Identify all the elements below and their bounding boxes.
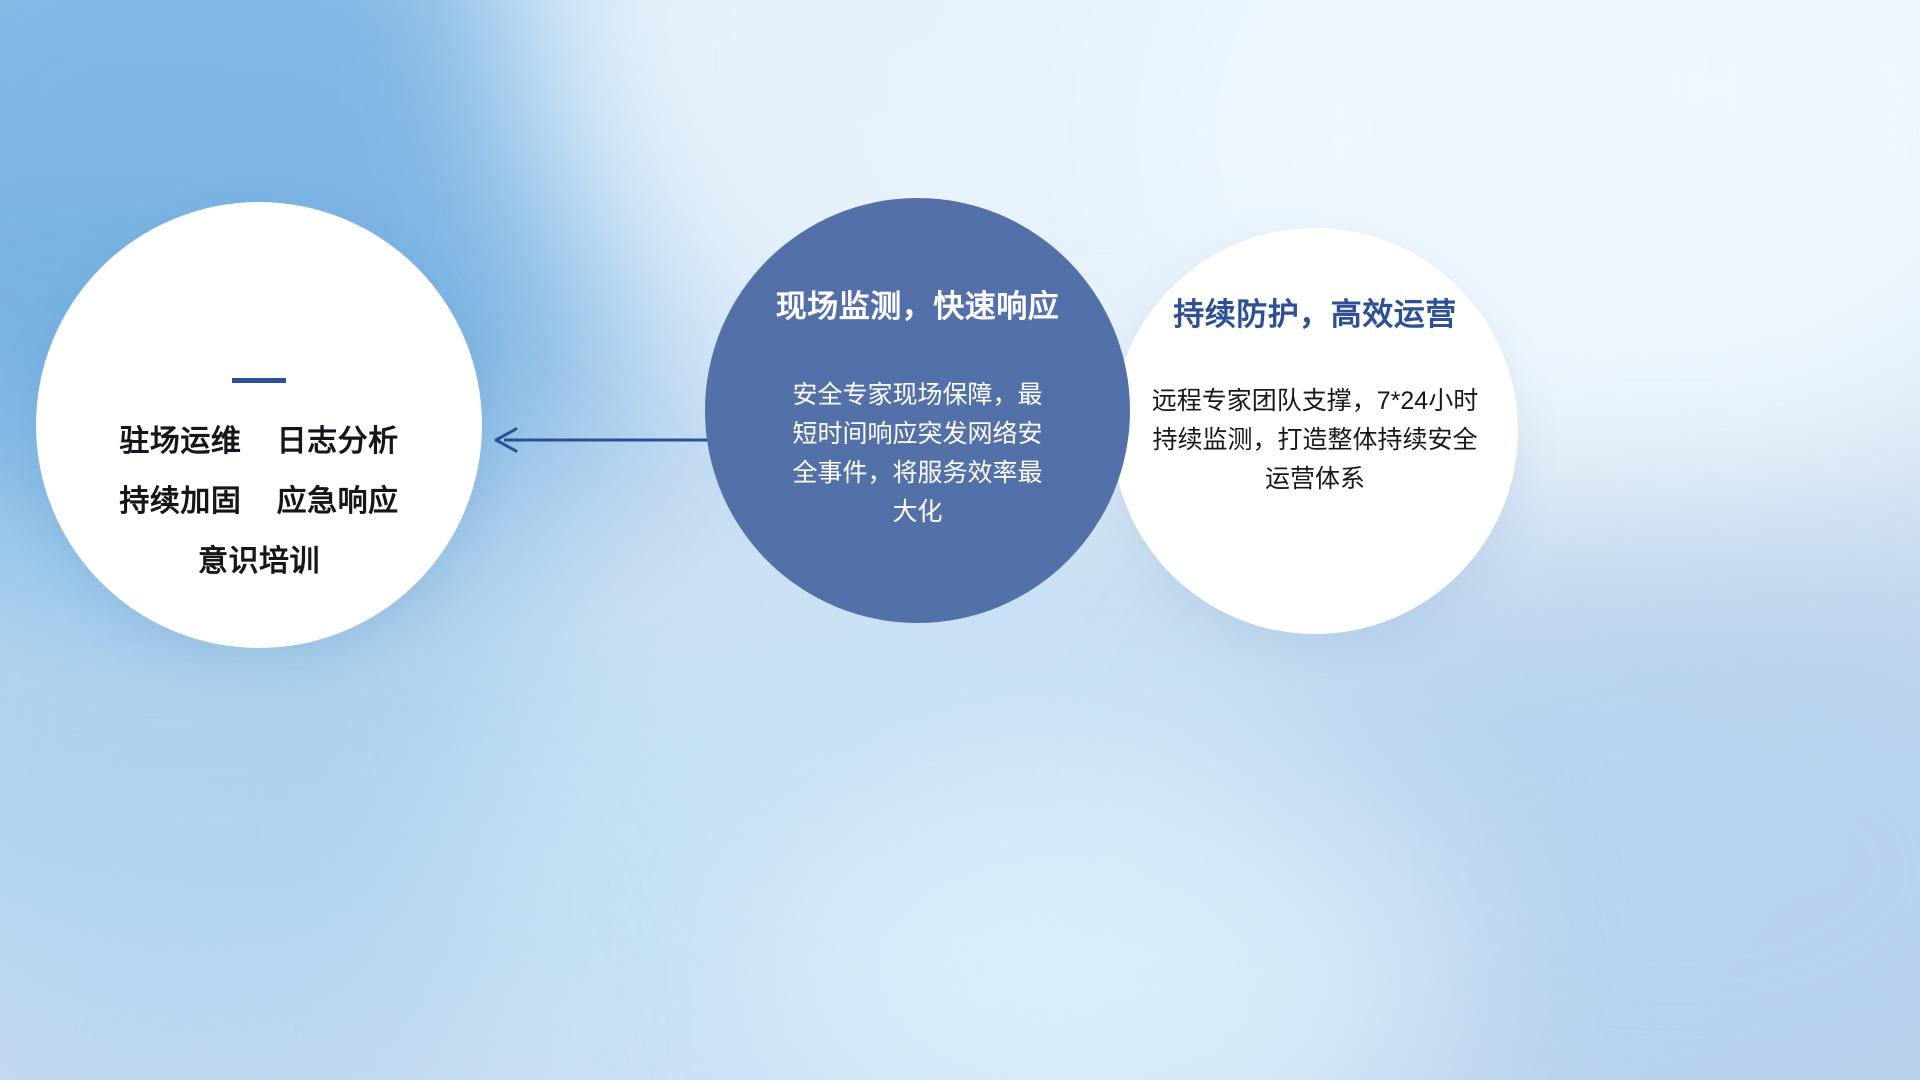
background-blob	[0, 840, 500, 1080]
card-body: 安全专家现场保障，最短时间响应突发网络安全事件，将服务效率最大化	[783, 376, 1053, 532]
card-title: 现场监测，快速响应	[776, 290, 1060, 324]
slide-canvas: 驻场运维 日志分析 持续加固 应急响应 意识培训 现场监测，快速响应 安全专家现…	[0, 0, 1920, 1080]
background-blob	[420, 600, 1420, 1080]
continuous-protection-circle: 持续防护，高效运营 远程专家团队支撑，7*24小时持续监测，打造整体持续安全运营…	[1112, 228, 1518, 634]
card-title: 持续防护，高效运营	[1173, 298, 1457, 332]
horizontal-dash-icon	[232, 378, 286, 383]
onsite-monitoring-circle: 现场监测，快速响应 安全专家现场保障，最短时间响应突发网络安全事件，将服务效率最…	[705, 198, 1130, 623]
background-blob	[1220, 560, 1920, 1080]
card-body: 远程专家团队支撑，7*24小时持续监测，打造整体持续安全运营体系	[1143, 382, 1487, 499]
background-blob	[760, 760, 1460, 1080]
keyword-line: 意识培训	[36, 547, 482, 577]
capability-keywords-circle: 驻场运维 日志分析 持续加固 应急响应 意识培训	[36, 202, 482, 648]
keyword-list: 驻场运维 日志分析 持续加固 应急响应 意识培训	[36, 427, 482, 577]
left-arrow-icon	[478, 418, 738, 462]
keyword-line: 持续加固 应急响应	[36, 487, 482, 517]
keyword-line: 驻场运维 日志分析	[36, 427, 482, 457]
